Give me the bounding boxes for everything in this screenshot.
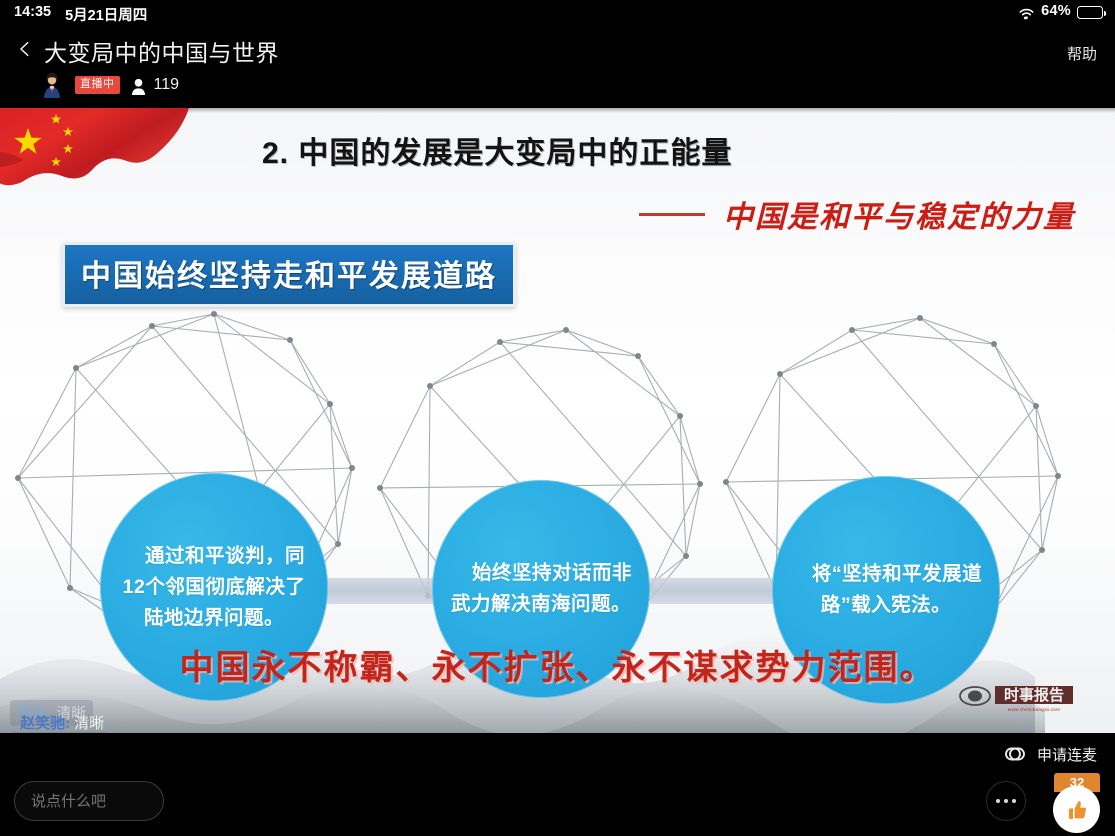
live-class-screen: 14:35 5月21日周四 64% 大变局中的中国与世界 帮助	[0, 0, 1115, 836]
help-button[interactable]: 帮助	[1067, 43, 1097, 64]
slide-subtitle: 中国是和平与稳定的力量	[723, 192, 1075, 236]
slide-banner-label: 中国始终坚持走和平发展道路	[81, 260, 497, 293]
viewer-count-group: 119	[131, 76, 180, 94]
slide-canvas[interactable]: 2. 中国的发展是大变局中的正能量 中国是和平与稳定的力量 中国始终坚持走和平发…	[0, 108, 1115, 733]
bubble-3-text: 将“坚持和平发展道路”载入宪法。	[772, 559, 1000, 621]
chevron-left-icon[interactable]	[16, 40, 34, 58]
chat-author: 赵笑驰	[20, 715, 65, 732]
chat-separator: :	[65, 715, 74, 732]
like-circle	[1053, 786, 1100, 833]
battery-percent-label: 64%	[1041, 3, 1071, 19]
publisher-watermark: 时事报告 www.shishibaogao.com	[957, 681, 1077, 715]
request-mic-label: 申请连麦	[1037, 744, 1097, 765]
slide-heading: 2. 中国的发展是大变局中的正能量	[262, 128, 732, 172]
bubble-2-text: 始终坚持对话而非武力解决南海问题。	[432, 558, 650, 620]
like-button[interactable]: 32	[1050, 773, 1104, 831]
china-flag-icon	[0, 108, 207, 216]
chat-text: 清晰	[74, 715, 104, 732]
header-bar: 大变局中的中国与世界 帮助 直播中	[0, 26, 1115, 108]
battery-icon	[1077, 6, 1103, 19]
header-meta-row: 直播中 119	[40, 72, 179, 98]
date-label: 5月21日周四	[65, 4, 147, 25]
page-title: 大变局中的中国与世界	[44, 34, 279, 68]
message-input[interactable]	[14, 781, 164, 821]
live-status-badge: 直播中	[75, 76, 120, 94]
person-icon	[131, 78, 146, 95]
slide-subtitle-group: 中国是和平与稳定的力量	[639, 192, 1075, 236]
wifi-icon	[1018, 7, 1035, 20]
ellipsis-icon	[996, 799, 1016, 803]
avatar[interactable]	[40, 72, 64, 98]
more-options-button[interactable]	[986, 781, 1026, 821]
status-bar: 14:35 5月21日周四 64%	[0, 0, 1115, 26]
status-bar-left: 14:35 5月21日周四	[14, 4, 147, 25]
clock: 14:35	[14, 4, 51, 25]
link-mic-icon	[1002, 741, 1028, 767]
bubble-1-text: 通过和平谈判，同12个邻国彻底解决了陆地边界问题。	[100, 541, 328, 634]
viewer-count-label: 119	[154, 76, 180, 94]
list-item: 赵笑驰: 清晰	[10, 710, 111, 742]
bottom-bar: 赵笑驰: 清晰 申请连麦 32	[0, 733, 1115, 836]
svg-text:时事报告: 时事报告	[1004, 686, 1064, 704]
slide-slogan: 中国永不称霸、永不扩张、永不谋求势力范围。	[0, 640, 1115, 689]
svg-text:www.shishibaogao.com: www.shishibaogao.com	[1008, 707, 1061, 713]
status-bar-right: 64%	[1018, 3, 1103, 19]
thumbs-up-icon	[1065, 798, 1089, 822]
subtitle-dash	[639, 213, 705, 216]
slide-banner: 中国始终坚持走和平发展道路	[62, 242, 516, 307]
request-mic-button[interactable]: 申请连麦	[1002, 741, 1097, 767]
